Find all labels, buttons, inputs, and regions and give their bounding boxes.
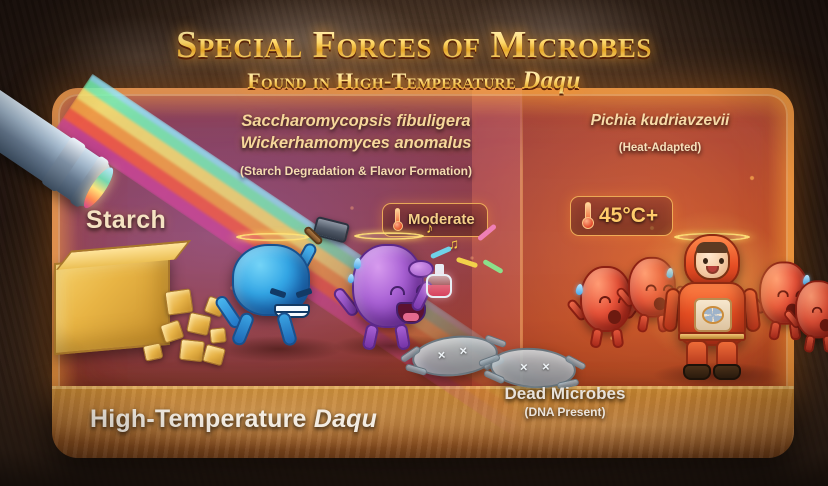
suit-belt [678, 332, 746, 341]
page-subtitle: Found in High-Temperature Daqu [0, 67, 828, 95]
suit-boot [713, 364, 741, 380]
left-species-label-group: Saccharomycopsis fibuligera Wickerhamomy… [206, 110, 506, 178]
high-temp-badge-label: 45°C+ [599, 204, 658, 228]
headline-block: Special Forces of Microbes Found in High… [0, 26, 828, 95]
confetti-ribbon [456, 257, 478, 269]
dead-microbes-note: (DNA Present) [470, 405, 660, 419]
x-eye-icon: × [459, 343, 468, 359]
starch-main-cube [54, 253, 170, 355]
purple-flavor-microbe [330, 224, 450, 352]
microbe-leg [361, 323, 379, 351]
flask-icon [426, 264, 452, 298]
blue-strong-microbe [212, 222, 336, 352]
starch-label: Starch [86, 206, 166, 235]
microbe-leg [394, 323, 411, 351]
species-pichia: Pichia kudriavzevii [540, 112, 780, 130]
halo-icon [354, 232, 424, 239]
right-species-label-group: Pichia kudriavzevii (Heat-Adapted) [540, 112, 780, 154]
thermometer-icon [581, 202, 594, 229]
infographic-canvas: Special Forces of Microbes Found in High… [0, 0, 828, 486]
dead-microbes-caption: Dead Microbes (DNA Present) [470, 384, 660, 419]
heat-suit-astronaut [664, 228, 760, 380]
left-function-note: (Starch Degradation & Flavor Formation) [206, 164, 506, 178]
red-sweating-microbe [790, 273, 828, 350]
subtitle-prefix: Found in High-Temperature [247, 68, 522, 93]
confetti-ribbon [477, 224, 497, 242]
x-eye-icon: × [542, 359, 551, 374]
fan-icon [702, 306, 724, 324]
x-eye-icon: × [520, 359, 529, 374]
page-title: Special Forces of Microbes [0, 26, 828, 65]
astronaut-hair [696, 242, 728, 253]
suit-boot [683, 364, 711, 380]
container-label: High-Temperature Daqu [90, 405, 377, 434]
container-label-prefix: High-Temperature [90, 405, 314, 433]
species-saccharomycopsis: Saccharomycopsis fibuligera [206, 110, 506, 132]
species-wickerhamomyces: Wickerhamomyces anomalus [206, 132, 506, 154]
microbe-body [352, 244, 424, 328]
right-adaptation-note: (Heat-Adapted) [540, 142, 780, 154]
confetti-ribbon [482, 259, 504, 274]
dead-microbes-title: Dead Microbes [470, 384, 660, 404]
container-label-italic: Daqu [314, 405, 377, 433]
astronaut-eye [719, 258, 724, 264]
microbe-eye [390, 286, 405, 295]
astronaut-eye [703, 258, 708, 264]
microbe-eye [295, 288, 312, 299]
microbe-eye [269, 288, 286, 299]
subtitle-italic-term: Daqu [522, 67, 581, 94]
microbe-body [232, 244, 310, 316]
